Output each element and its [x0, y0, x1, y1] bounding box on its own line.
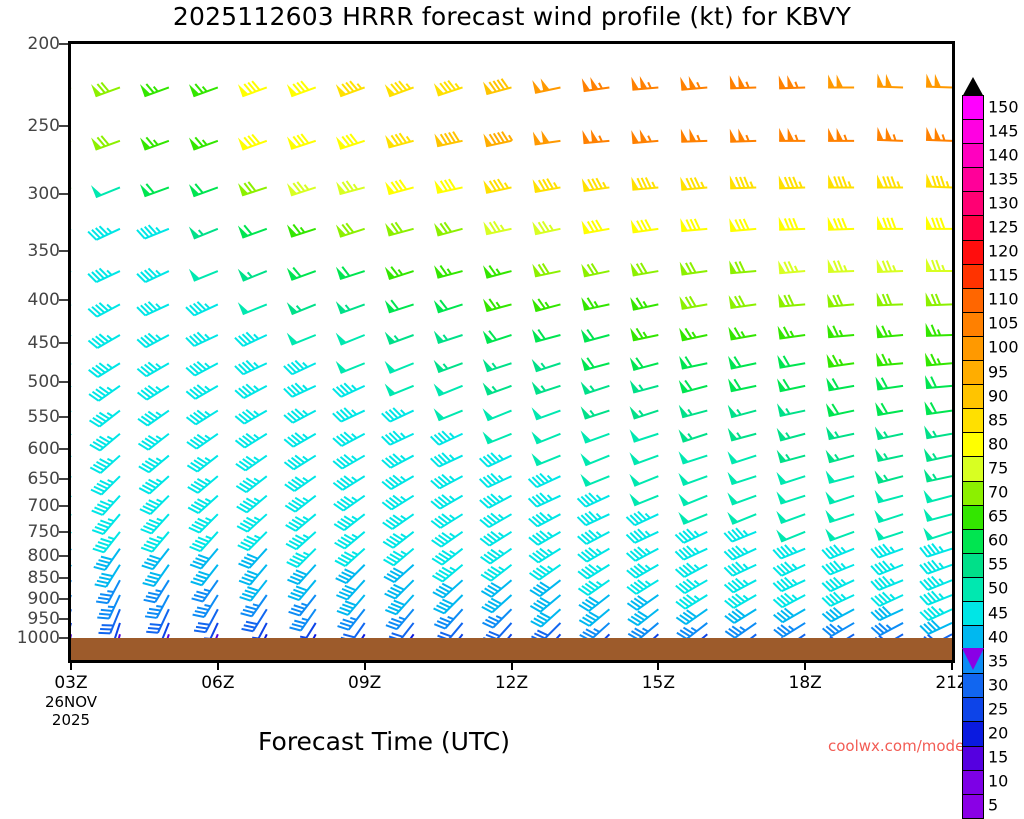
wind-profile-chart: 2025112603 HRRR forecast wind profile (k… [0, 0, 1024, 768]
wind-barb [186, 302, 218, 316]
wind-barb [728, 327, 756, 340]
wind-barb [138, 386, 169, 400]
y-axis-tick-mark [59, 416, 68, 418]
wind-barb [581, 357, 609, 370]
wind-barb [533, 179, 561, 192]
wind-barb [680, 218, 707, 231]
y-axis-tick-label: 800 [2, 546, 60, 566]
y-axis-tick-label: 750 [2, 522, 60, 542]
wind-barb [434, 360, 463, 372]
wind-barb [580, 453, 609, 465]
wind-barb [871, 561, 903, 574]
wind-barb [877, 127, 903, 141]
wind-barb [724, 546, 756, 560]
wind-barb [627, 564, 658, 578]
x-axis-tick-mark [951, 662, 953, 670]
colorbar-segment: 150 [962, 95, 984, 120]
wind-barb [238, 225, 267, 237]
page-title: 2025112603 HRRR forecast wind profile (k… [0, 2, 1024, 31]
x-axis-date-label: 26NOV 2025 [45, 693, 97, 729]
wind-barb [434, 265, 462, 278]
wind-barb [779, 175, 805, 188]
wind-barb [532, 382, 561, 394]
wind-barb [729, 260, 756, 273]
wind-barb [877, 74, 903, 88]
wind-barb [822, 545, 854, 558]
wind-barb [679, 380, 707, 393]
wind-barb [679, 356, 707, 369]
wind-barb [676, 595, 707, 609]
wind-barb [679, 405, 707, 418]
wind-barb [729, 218, 756, 231]
wind-barb [828, 217, 854, 230]
colorbar-segment: 65 [962, 505, 984, 530]
wind-barb [822, 561, 854, 574]
wind-barb [679, 451, 708, 463]
wind-barb [187, 410, 218, 424]
wind-barb [287, 224, 316, 236]
wind-barb [828, 174, 854, 187]
wind-barb [137, 333, 169, 347]
wind-barb [875, 426, 903, 439]
wind-barb [875, 402, 903, 415]
x-axis-tick-label: 06Z [201, 673, 234, 693]
wind-barb [483, 431, 512, 443]
wind-barb [779, 128, 805, 141]
wind-barb [88, 268, 120, 282]
wind-barb [335, 549, 365, 566]
wind-barb [188, 476, 218, 493]
wind-barb [532, 78, 560, 92]
wind-barb [727, 492, 756, 504]
wind-barb [483, 132, 512, 147]
wind-barb [827, 324, 854, 337]
y-axis-tick-mark [59, 555, 68, 557]
wind-barb [431, 431, 463, 445]
wind-barb [629, 474, 658, 486]
wind-barb [239, 549, 267, 568]
wind-barb [680, 177, 707, 190]
wind-barb [920, 577, 952, 590]
wind-barb [238, 134, 267, 149]
wind-barb [480, 513, 511, 527]
colorbar-segment: 45 [962, 601, 984, 626]
y-axis-tick-label: 450 [2, 333, 60, 353]
wind-barb [139, 476, 169, 493]
colorbar-tick-label: 105 [988, 314, 1019, 333]
wind-barb [926, 216, 952, 229]
y-axis-tick-mark [59, 342, 68, 344]
wind-barb [483, 79, 511, 94]
wind-barb [189, 84, 218, 96]
wind-barb [237, 496, 267, 513]
wind-barb [238, 269, 267, 281]
wind-barb [138, 434, 168, 450]
wind-barb [336, 301, 365, 313]
wind-barb [530, 580, 560, 596]
wind-barb [875, 490, 903, 503]
wind-barb [877, 292, 903, 305]
colorbar-tick-label: 35 [988, 651, 1008, 670]
wind-barb [287, 333, 316, 345]
wind-barb [188, 496, 218, 513]
wind-barb [333, 432, 365, 446]
wind-barb [137, 302, 169, 316]
wind-barb [627, 595, 658, 610]
wind-barb [776, 491, 805, 503]
wind-barb [336, 223, 365, 237]
wind-barb [336, 565, 365, 583]
wind-barb [875, 448, 903, 461]
wind-barb [91, 476, 120, 494]
colorbar-segment: 105 [962, 312, 984, 337]
colorbar-segment: 20 [962, 721, 984, 746]
wind-barb [924, 425, 952, 438]
wind-barb [238, 302, 267, 314]
wind-barb [483, 221, 511, 234]
wind-barb [434, 132, 462, 147]
wind-barb [582, 129, 609, 143]
wind-barb [529, 549, 560, 563]
wind-barb [434, 81, 463, 96]
wind-barb [532, 299, 560, 312]
colorbar-tick-label: 70 [988, 482, 1008, 501]
colorbar-tick-label: 90 [988, 386, 1008, 405]
y-axis-tick-mark [59, 381, 68, 383]
wind-barb [483, 265, 511, 278]
y-axis-tick-label: 900 [2, 589, 60, 609]
colorbar-tick-label: 65 [988, 507, 1008, 526]
wind-barb [90, 411, 120, 427]
colorbar-tick-label: 50 [988, 579, 1008, 598]
wind-barb [675, 546, 707, 560]
wind-barb [286, 532, 316, 549]
wind-barb [725, 623, 756, 638]
wind-barb [924, 508, 952, 521]
wind-barb [678, 512, 707, 524]
date-month-day: 26NOV [45, 693, 97, 711]
wind-barb [728, 428, 756, 441]
y-axis-tick-mark [59, 250, 68, 252]
wind-barb [480, 453, 512, 467]
wind-barb [877, 216, 903, 229]
x-axis-tick-mark [70, 662, 72, 670]
wind-barb [137, 362, 168, 376]
wind-barb [728, 405, 756, 418]
wind-barb [186, 362, 218, 376]
wind-barb [89, 363, 120, 377]
colorbar-segment: 90 [962, 384, 984, 409]
colorbar-segment: 140 [962, 143, 984, 168]
wind-barb [627, 580, 658, 594]
wind-barb [826, 470, 854, 483]
wind-barb [871, 577, 903, 590]
wind-barb [774, 608, 805, 622]
wind-barb [382, 496, 413, 510]
wind-barb [481, 565, 511, 581]
wind-barb [923, 527, 952, 539]
wind-barb [287, 134, 316, 149]
wind-barb [730, 175, 756, 188]
wind-barb [926, 127, 952, 141]
wind-barb [333, 476, 364, 490]
wind-barb [828, 74, 854, 87]
wind-barb [627, 547, 659, 561]
wind-barb [529, 513, 561, 527]
colorbar-segment: 15 [962, 746, 984, 771]
wind-barb [529, 493, 561, 507]
wind-barb [581, 329, 609, 342]
colorbar-segment: 40 [962, 625, 984, 650]
wind-barb [533, 130, 561, 144]
wind-barb [238, 81, 267, 96]
colorbar-segment: 50 [962, 577, 984, 602]
wind-barb [384, 549, 414, 566]
colorbar-segment: 75 [962, 456, 984, 481]
y-axis-tick-label: 700 [2, 496, 60, 516]
y-axis-tick-label: 650 [2, 469, 60, 489]
wind-barb [776, 530, 805, 542]
wind-barb [336, 580, 364, 599]
y-axis-tick-label: 200 [2, 34, 60, 54]
wind-barb [90, 456, 120, 473]
wind-barb [774, 623, 805, 637]
y-axis-tick-mark [59, 43, 68, 45]
wind-barb [924, 469, 952, 482]
wind-barb [778, 326, 806, 339]
wind-barb [532, 264, 560, 277]
y-axis-tick-mark [59, 125, 68, 127]
wind-barb [626, 529, 658, 543]
colorbar-top-cap-icon [962, 77, 984, 97]
colorbar-segment: 60 [962, 529, 984, 554]
colorbar-tick-label: 115 [988, 266, 1019, 285]
wind-barb [631, 76, 658, 90]
wind-barb [871, 544, 903, 557]
colorbar-tick-label: 55 [988, 555, 1008, 574]
wind-barb [628, 609, 658, 625]
wind-barb [141, 532, 169, 552]
colorbar-tick-label: 100 [988, 338, 1019, 357]
x-axis-tick-label: 15Z [642, 673, 675, 693]
colorbar-tick-label: 40 [988, 627, 1008, 646]
wind-barb [532, 359, 561, 371]
wind-barb [822, 592, 854, 606]
wind-barb [532, 221, 560, 234]
wind-barb [876, 353, 903, 366]
wind-barb [88, 334, 119, 348]
wind-barb [191, 565, 218, 585]
wind-barb [284, 455, 315, 469]
wind-barb [728, 356, 756, 369]
wind-barb [434, 331, 463, 343]
wind-barb [284, 433, 315, 447]
colorbar-tick-label: 130 [988, 193, 1019, 212]
colorbar-segment: 100 [962, 336, 984, 361]
wind-barb [825, 491, 854, 503]
wind-barb [679, 429, 708, 441]
wind-barb [141, 514, 169, 533]
wind-barb [680, 76, 707, 90]
wind-barb [582, 220, 610, 233]
wind-barb [434, 408, 463, 420]
wind-barb [91, 136, 120, 150]
y-axis-tick-label: 850 [2, 568, 60, 588]
wind-barb [482, 595, 512, 612]
wind-barb [88, 303, 120, 317]
wind-barb [582, 77, 610, 91]
wind-barb [187, 456, 217, 472]
x-axis-tick-mark [511, 662, 513, 670]
y-axis-tick-mark [59, 448, 68, 450]
wind-barb [483, 299, 511, 312]
wind-barb [926, 258, 952, 271]
wind-barb [828, 259, 854, 272]
wind-barb [875, 470, 903, 483]
y-axis-tick-label: 350 [2, 241, 60, 261]
wind-barb [676, 609, 707, 624]
wind-barb [920, 560, 952, 573]
y-axis-tick-mark [59, 577, 68, 579]
colorbar-segment: 125 [962, 215, 984, 240]
wind-barb [727, 451, 756, 463]
colorbar-tick-label: 120 [988, 241, 1019, 260]
colorbar-segment: 95 [962, 360, 984, 385]
wind-barb [90, 434, 120, 451]
wind-barb [871, 623, 903, 635]
wind-barb [434, 300, 463, 312]
wind-barb [679, 296, 707, 309]
wind-barb [189, 184, 218, 196]
wind-barb [725, 594, 756, 608]
wind-barb [578, 565, 609, 579]
wind-barb [777, 428, 805, 441]
colorbar-tick-label: 80 [988, 434, 1008, 453]
wind-barb [532, 407, 561, 419]
wind-barb [777, 450, 805, 463]
colorbar-bottom-cap-icon [962, 648, 984, 670]
wind-barb [187, 434, 218, 449]
wind-barb [287, 81, 316, 96]
wind-barb [675, 529, 707, 543]
wind-barb [920, 607, 952, 621]
wind-barb [579, 609, 609, 626]
wind-barb [142, 549, 169, 569]
wind-barb [483, 383, 512, 395]
wind-barb [235, 384, 267, 398]
wind-barb [777, 355, 805, 368]
wind-barb [383, 514, 414, 529]
wind-barb [729, 295, 757, 308]
wind-barb [336, 333, 365, 345]
x-axis-tick-label: 12Z [495, 673, 528, 693]
wind-barb [631, 177, 658, 190]
wind-barb [483, 331, 512, 343]
colorbar-tick-label: 150 [988, 97, 1019, 116]
x-axis-title: Forecast Time (UTC) [0, 727, 768, 756]
wind-barb [336, 361, 365, 373]
y-axis-tick-label: 250 [2, 116, 60, 136]
y-axis-tick-mark [59, 531, 68, 533]
wind-barb [480, 494, 512, 508]
wind-barb [778, 260, 805, 273]
wind-barb [874, 527, 903, 539]
x-axis-tick-mark [657, 662, 659, 670]
wind-barb [920, 544, 952, 557]
wind-barb [724, 562, 756, 576]
wind-barb [139, 456, 169, 473]
wind-barb [630, 328, 658, 341]
wind-barb [92, 514, 120, 534]
wind-barb [431, 475, 463, 489]
wind-barb [531, 431, 560, 443]
wind-barb [826, 450, 854, 463]
x-axis-tick-mark [364, 662, 366, 670]
wind-barb [382, 475, 413, 489]
wind-barb [385, 332, 414, 344]
wind-barb [578, 512, 610, 526]
wind-barb [189, 137, 218, 149]
wind-barb [581, 382, 610, 394]
wind-barb [480, 474, 512, 488]
wind-barb [385, 300, 414, 312]
colorbar-segment: 80 [962, 432, 984, 457]
wind-barb [581, 430, 610, 442]
wind-barb [88, 226, 120, 240]
wind-barb [385, 133, 413, 147]
wind-barb [822, 578, 854, 592]
wind-barb [926, 292, 952, 305]
wind-barb [385, 384, 414, 396]
wind-barb [826, 403, 854, 416]
wind-barb [236, 434, 267, 448]
wind-barb [385, 81, 414, 96]
colorbar-tick-label: 15 [988, 747, 1008, 766]
colorbar-tick-label: 85 [988, 410, 1008, 429]
x-axis-tick-mark [804, 662, 806, 670]
wind-barb [483, 359, 512, 371]
wind-barb [284, 409, 316, 423]
wind-barb [776, 511, 805, 523]
y-axis-tick-label: 400 [2, 290, 60, 310]
terrain-band [71, 638, 952, 660]
wind-barb [827, 294, 854, 307]
x-axis-tick-label: 03Z [54, 673, 87, 693]
wind-barb [140, 496, 169, 514]
wind-barb [825, 510, 854, 522]
wind-barb [531, 609, 561, 626]
wind-barb [529, 531, 560, 545]
wind-barb [91, 83, 120, 97]
wind-barb [678, 493, 707, 505]
wind-barb [335, 532, 365, 549]
x-axis-tick-label: 18Z [789, 673, 822, 693]
wind-barb [579, 580, 610, 595]
watermark: coolwx.com/modelts [828, 737, 982, 755]
wind-barb [189, 514, 218, 532]
wind-barb [773, 578, 805, 592]
wind-barb [727, 472, 756, 484]
wind-barb [777, 403, 805, 416]
wind-barb [629, 493, 658, 505]
wind-barb [920, 591, 952, 604]
wind-barb [91, 185, 120, 197]
wind-barb [189, 227, 218, 239]
wind-barb [925, 353, 952, 366]
wind-barb [434, 595, 463, 613]
colorbar-tick-label: 10 [988, 772, 1008, 791]
wind-barb [186, 385, 217, 399]
